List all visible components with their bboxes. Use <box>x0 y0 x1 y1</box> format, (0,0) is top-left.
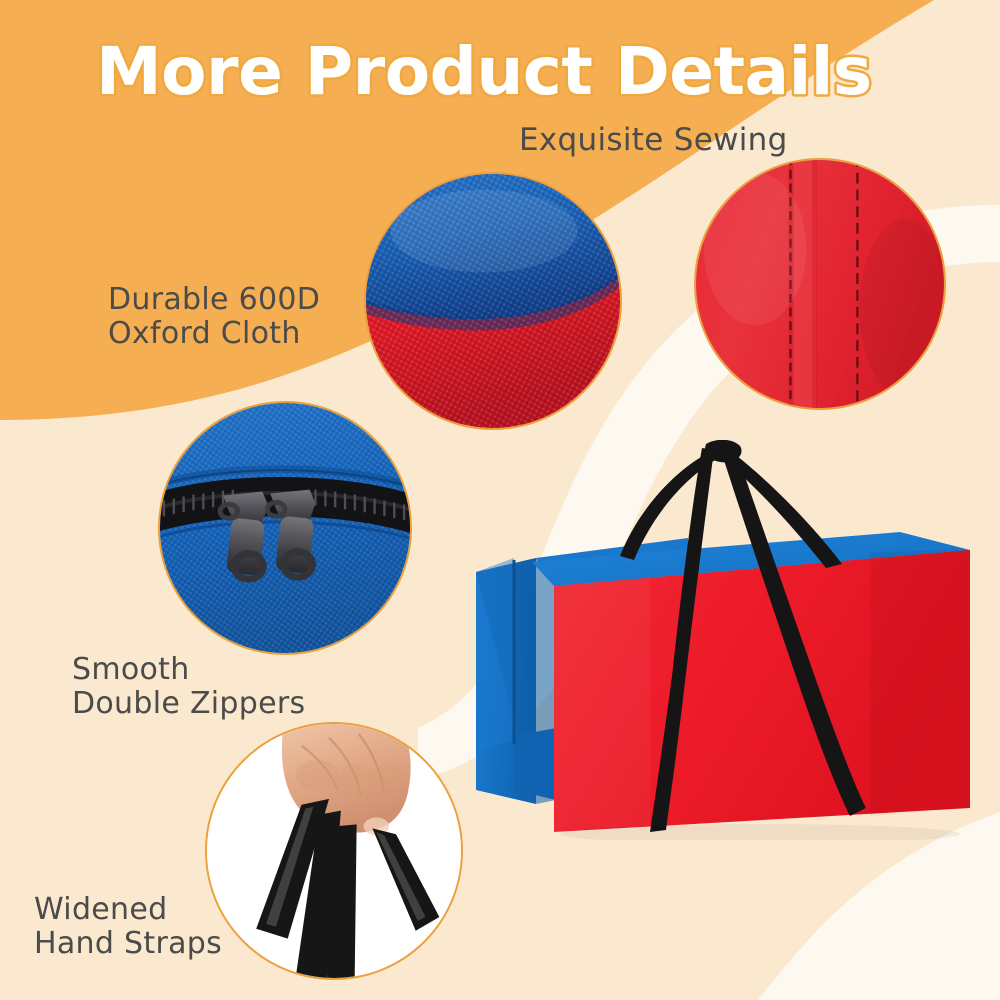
feature-label-durable-oxford-cloth: Durable 600D Oxford Cloth <box>108 283 320 350</box>
product-image-storage-bag <box>470 440 990 840</box>
detail-circle-oxford-fabric <box>364 172 622 430</box>
detail-circle-exquisite-sewing <box>694 158 946 410</box>
page-title: More Product Details <box>96 30 876 116</box>
bag-red-front <box>554 550 970 832</box>
feature-label-widened-hand-straps: Widened Hand Straps <box>34 893 222 960</box>
detail-circle-hand-straps <box>205 722 463 980</box>
page-title-text: More Product Details <box>96 33 872 110</box>
product-details-infographic: More Product Details Exquisite Sewing Du… <box>0 0 1000 1000</box>
red-stitching-image <box>696 160 944 408</box>
hand-straps-image <box>207 724 461 978</box>
oxford-fabric-image <box>366 174 620 428</box>
feature-label-exquisite-sewing: Exquisite Sewing <box>519 123 788 158</box>
detail-circle-double-zippers <box>158 401 412 655</box>
double-zipper-image <box>160 403 410 653</box>
feature-label-smooth-double-zippers: Smooth Double Zippers <box>72 653 305 720</box>
